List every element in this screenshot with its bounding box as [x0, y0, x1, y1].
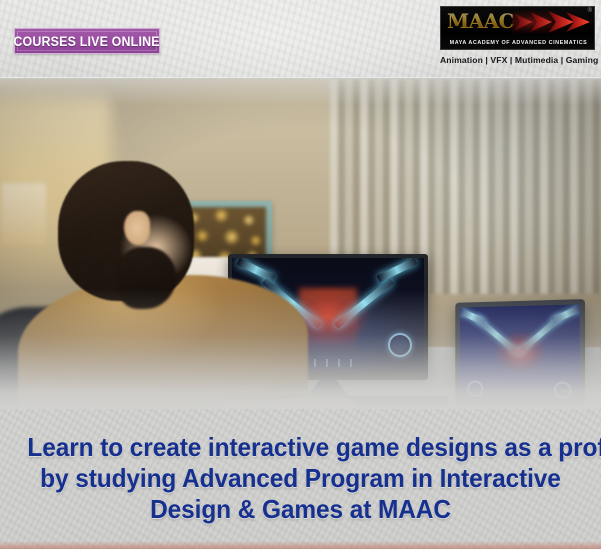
headline: Learn to create interactive game designs…	[0, 432, 601, 525]
hero-photo	[0, 79, 601, 409]
person-ear	[124, 211, 150, 245]
headline-line-2: by studying Advanced Program in Interact…	[27, 463, 573, 494]
badge-label: COURSES LIVE ONLINE	[14, 34, 160, 49]
laptop	[455, 299, 585, 409]
headline-line-3: Design & Games at MAAC	[27, 494, 573, 525]
wall-picture	[2, 183, 46, 245]
maac-logo-tagline: Animation | VFX | Mutimedia | Gaming	[440, 55, 595, 65]
maac-logo-subtitle: MAYA ACADEMY OF ADVANCED CINEMATICS	[449, 40, 588, 46]
advertisement-poster: COURSES LIVE ONLINE ® MAAC	[0, 0, 601, 549]
game-light-beam	[236, 258, 275, 282]
game-light-beam	[551, 305, 580, 325]
game-hud-right-icon	[388, 333, 412, 357]
game-light-beam	[460, 308, 486, 326]
game-light-beam	[376, 258, 417, 283]
chevron-arrows-icon	[512, 10, 590, 34]
laptop-game-screen	[460, 304, 580, 409]
maac-wordmark: MAAC	[447, 11, 514, 31]
headline-line-1: Learn to create interactive game designs…	[27, 432, 573, 463]
poster-header: COURSES LIVE ONLINE ® MAAC	[0, 0, 601, 79]
game-hud-right-icon	[554, 381, 571, 399]
courses-live-online-badge[interactable]: COURSES LIVE ONLINE	[14, 28, 160, 54]
maac-logo[interactable]: ® MAAC	[440, 6, 595, 65]
bottom-accent-band	[0, 541, 601, 549]
game-hud-left-icon	[467, 380, 483, 397]
maac-logo-plate: ® MAAC	[440, 6, 595, 50]
